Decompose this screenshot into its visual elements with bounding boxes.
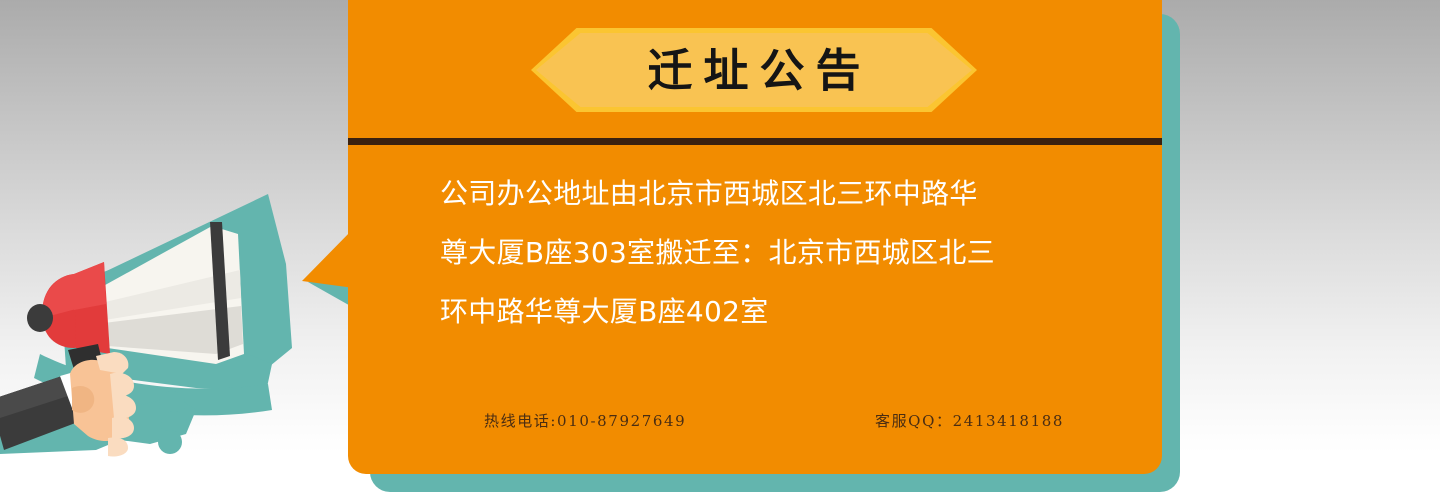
title-badge: 迁址公告 xyxy=(531,28,977,112)
body-line: 公司办公地址由北京市西城区北三环中路华 xyxy=(440,164,1090,223)
announcement-body: 公司办公地址由北京市西城区北三环中路华 尊大厦B座303室搬迁至：北京市西城区北… xyxy=(440,164,1090,341)
body-line: 环中路华尊大厦B座402室 xyxy=(440,282,1090,341)
title-divider xyxy=(348,138,1162,145)
hotline-text: 热线电话:010-87927649 xyxy=(484,410,686,431)
megaphone-cap xyxy=(42,262,110,354)
body-line: 尊大厦B座303室搬迁至：北京市西城区北三 xyxy=(440,223,1090,282)
page-title: 迁址公告 xyxy=(531,28,977,112)
speech-tail xyxy=(298,228,354,288)
qq-text: 客服QQ：2413418188 xyxy=(875,410,1064,431)
contact-footer: 热线电话:010-87927649 客服QQ：2413418188 xyxy=(484,410,1064,431)
announcement-banner: 迁址公告 公司办公地址由北京市西城区北三环中路华 尊大厦B座303室搬迁至：北京… xyxy=(0,0,1440,492)
megaphone-nub xyxy=(27,304,53,332)
megaphone-illustration xyxy=(0,178,300,492)
